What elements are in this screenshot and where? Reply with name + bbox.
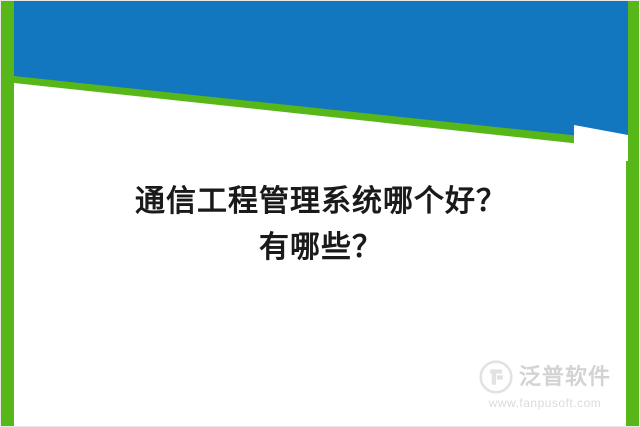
watermark-brand-row: 泛普软件 <box>479 360 611 394</box>
header-banner <box>14 1 628 161</box>
banner-blue-shape <box>14 1 628 141</box>
banner-shapes <box>14 1 628 161</box>
page-title: 通信工程管理系统哪个好？ 有哪些？ <box>14 179 628 271</box>
slide-canvas: 通信工程管理系统哪个好？ 有哪些？ 泛普软件 www.fanpusoft.com <box>0 0 640 427</box>
watermark-brand-text: 泛普软件 <box>519 364 611 390</box>
title-line-1: 通信工程管理系统哪个好？ <box>14 179 628 225</box>
watermark-url: www.fanpusoft.com <box>489 396 602 410</box>
title-line-2: 有哪些？ <box>14 225 628 271</box>
watermark-logo: 泛普软件 www.fanpusoft.com <box>479 360 611 410</box>
left-green-bar <box>1 1 14 427</box>
fanpu-logo-icon <box>479 360 513 394</box>
